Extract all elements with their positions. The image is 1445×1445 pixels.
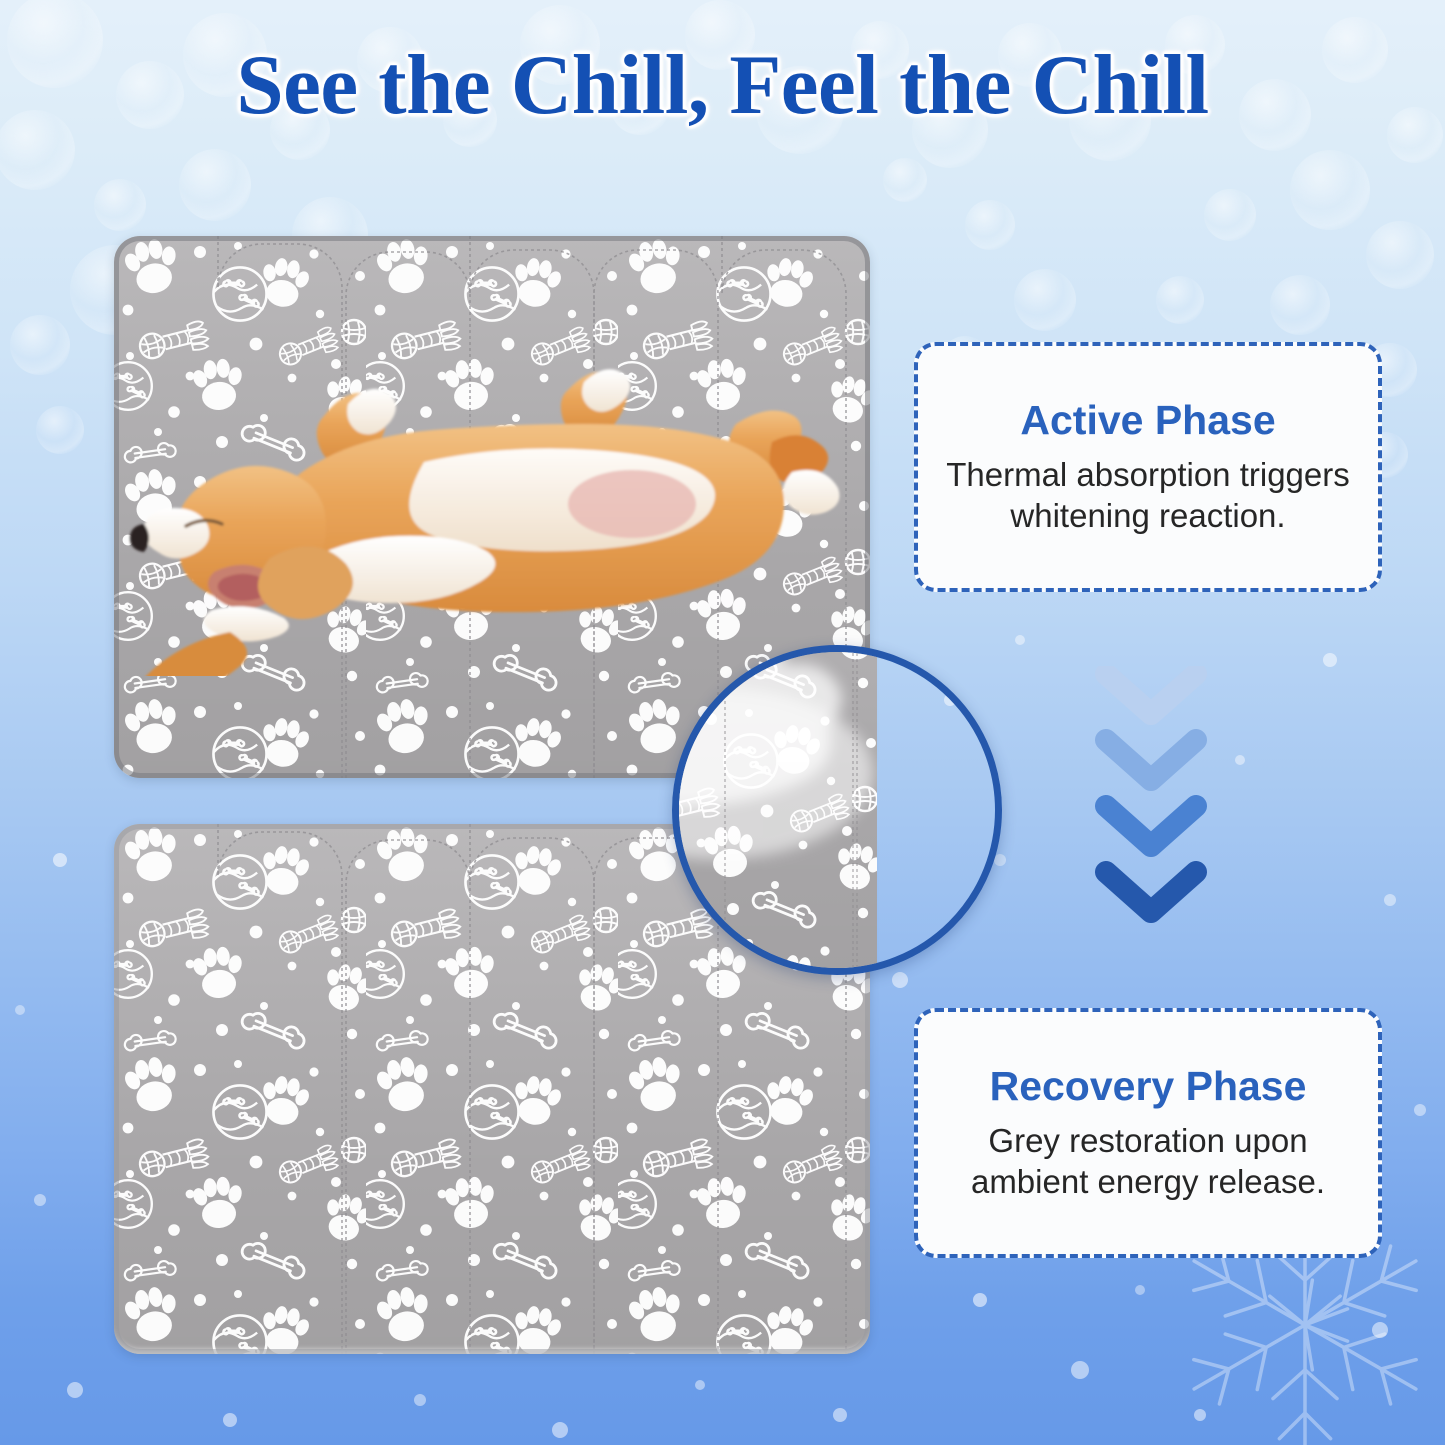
magnifier-quilt [672, 645, 877, 975]
chevron-down-icon [1106, 674, 1196, 714]
chevron-down-icon [1106, 872, 1196, 912]
chevron-down-icon [1106, 740, 1196, 780]
page-title: See the Chill, Feel the Chill [0, 36, 1445, 134]
infographic-canvas: See the Chill, Feel the Chill [0, 0, 1445, 1445]
chevron-arrow-group [1076, 666, 1226, 928]
sleeping-corgi-photo [124, 346, 864, 676]
card-active-phase-title: Active Phase [1020, 398, 1275, 443]
magnifier-detail-circle[interactable] [672, 645, 1002, 975]
card-active-phase: Active Phase Thermal absorption triggers… [914, 342, 1382, 592]
magnifier-content [672, 645, 877, 975]
card-recovery-phase: Recovery Phase Grey restoration upon amb… [914, 1008, 1382, 1258]
chevron-down-icon [1106, 806, 1196, 846]
card-recovery-phase-title: Recovery Phase [990, 1064, 1307, 1109]
card-recovery-phase-text: Grey restoration upon ambient energy rel… [944, 1121, 1352, 1202]
card-active-phase-text: Thermal absorption triggers whitening re… [944, 455, 1352, 536]
